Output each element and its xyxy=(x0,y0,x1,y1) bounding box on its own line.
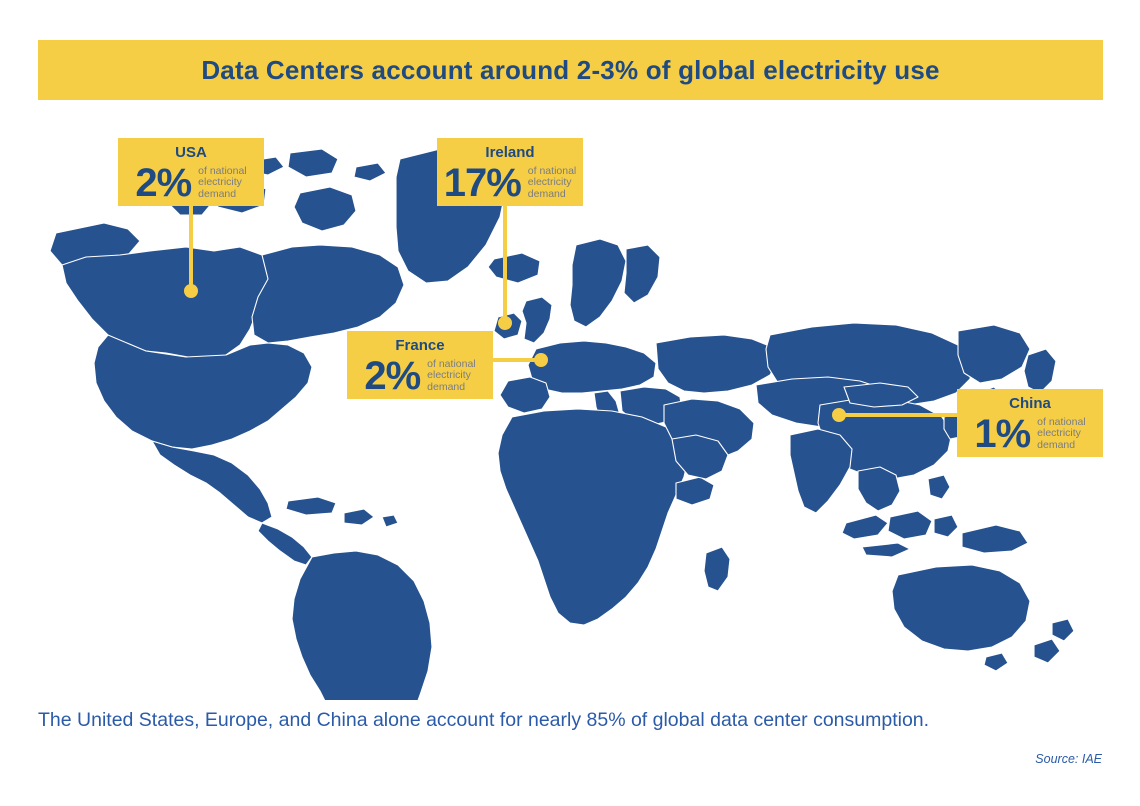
callout-china-note-line3: demand xyxy=(1037,440,1085,452)
island-tasmania xyxy=(984,653,1008,671)
horn-of-africa xyxy=(676,477,714,505)
country-finland xyxy=(624,245,660,303)
footer-caption: The United States, Europe, and China alo… xyxy=(38,708,1103,732)
callout-ireland-percent: 17% xyxy=(444,163,521,203)
callout-france-country: France xyxy=(357,337,483,355)
callout-ireland: Ireland 17% of national electricity dema… xyxy=(437,138,583,206)
callout-usa-note: of national electricity demand xyxy=(198,166,246,201)
callout-usa-percent: 2% xyxy=(135,163,191,203)
callout-ireland-note: of national electricity demand xyxy=(528,166,576,201)
leader-dot-usa xyxy=(184,284,198,298)
country-canada-east xyxy=(252,245,404,343)
country-australia xyxy=(892,565,1030,651)
callout-usa: USA 2% of national electricity demand xyxy=(118,138,264,206)
island-borneo xyxy=(888,511,932,539)
island-ellesmere xyxy=(288,149,338,177)
page-title: Data Centers account around 2-3% of glob… xyxy=(201,55,939,86)
country-mexico xyxy=(152,441,272,523)
continent-south-america xyxy=(292,551,432,700)
region-iberia xyxy=(500,377,550,413)
island-cuba xyxy=(286,497,336,515)
region-southeast-asia xyxy=(858,467,900,511)
leader-dot-ireland xyxy=(498,316,512,330)
callout-france-percent: 2% xyxy=(364,356,420,396)
callout-ireland-row: 17% of national electricity demand xyxy=(447,163,573,203)
callout-usa-row: 2% of national electricity demand xyxy=(128,163,254,203)
country-new-zealand-south xyxy=(1034,639,1060,663)
callout-china-percent: 1% xyxy=(974,414,1030,454)
callout-ireland-note-line3: demand xyxy=(528,189,576,201)
callout-france-row: 2% of national electricity demand xyxy=(357,356,483,396)
island-sulawesi xyxy=(934,515,958,537)
island-philippines xyxy=(928,475,950,499)
country-madagascar xyxy=(704,547,730,591)
island-new-guinea xyxy=(962,525,1028,553)
country-iceland xyxy=(488,253,540,283)
callout-china-row: 1% of national electricity demand xyxy=(967,414,1093,454)
title-banner: Data Centers account around 2-3% of glob… xyxy=(38,40,1103,100)
continent-africa xyxy=(498,409,688,625)
callout-china-country: China xyxy=(967,395,1093,413)
country-india xyxy=(790,429,852,513)
country-canada-west xyxy=(62,247,272,359)
peninsula-kamchatka xyxy=(1024,349,1056,393)
island-java xyxy=(862,543,910,557)
island-baffin xyxy=(294,187,356,231)
leader-line-ireland xyxy=(503,206,507,324)
callout-ireland-country: Ireland xyxy=(447,144,573,162)
source-attribution: Source: IAE xyxy=(1035,752,1102,766)
country-uk xyxy=(522,297,552,343)
island-sumatra xyxy=(842,515,888,539)
callout-usa-note-line3: demand xyxy=(198,189,246,201)
island-caribbean-small xyxy=(382,515,398,527)
leader-dot-china xyxy=(832,408,846,422)
callout-france-note-line3: demand xyxy=(427,382,475,394)
leader-dot-france xyxy=(534,353,548,367)
callout-france-note: of national electricity demand xyxy=(427,359,475,394)
callout-france: France 2% of national electricity demand xyxy=(347,331,493,399)
island-hispaniola xyxy=(344,509,374,525)
region-central-america xyxy=(258,523,312,565)
callout-china: China 1% of national electricity demand xyxy=(957,389,1103,457)
region-russia-far-east xyxy=(958,325,1030,383)
callout-china-note: of national electricity demand xyxy=(1037,417,1085,452)
country-new-zealand-north xyxy=(1052,619,1074,641)
callout-usa-country: USA xyxy=(128,144,254,162)
leader-line-china xyxy=(840,413,959,417)
region-scandinavia xyxy=(570,239,626,327)
leader-line-usa xyxy=(189,206,193,292)
island-arctic-small-2 xyxy=(354,163,386,181)
